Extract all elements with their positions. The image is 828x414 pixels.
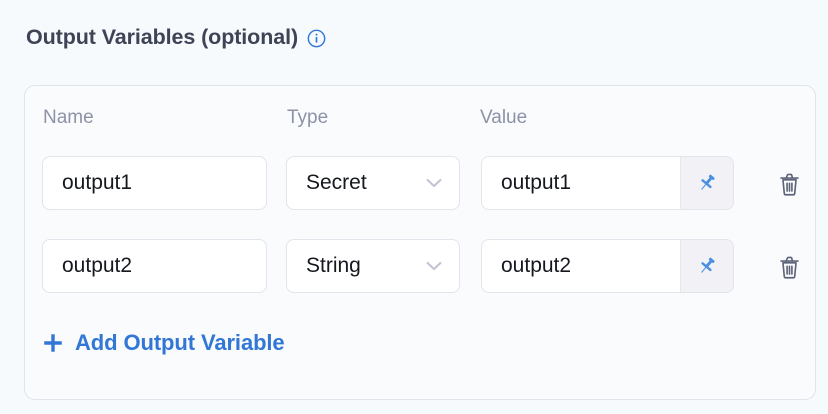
column-header-value: Value (480, 107, 527, 129)
column-header-type: Type (287, 107, 328, 129)
page-title: Output Variables (optional) (26, 25, 298, 50)
delete-variable-button[interactable] (762, 156, 816, 210)
variable-type-select[interactable]: Secret (286, 156, 460, 210)
column-header-name: Name (43, 107, 94, 129)
output-variables-rows: Secret (25, 156, 815, 322)
variable-type-selected-value: String (306, 254, 361, 278)
table-row: Secret (25, 156, 815, 210)
delete-variable-button[interactable] (762, 239, 816, 293)
table-header-row: Name Type Value (25, 107, 815, 133)
info-circle-icon[interactable] (307, 27, 326, 48)
variable-value-group (481, 156, 734, 210)
output-variables-card: Name Type Value Secret (24, 85, 816, 400)
pushpin-icon (696, 255, 718, 277)
variable-name-input[interactable] (42, 156, 267, 210)
variable-value-group (481, 239, 734, 293)
pin-value-button[interactable] (681, 157, 733, 209)
table-row: String (25, 239, 815, 293)
variable-value-input[interactable] (482, 240, 681, 292)
plus-icon (42, 332, 64, 354)
pin-value-button[interactable] (681, 240, 733, 292)
add-output-variable-label: Add Output Variable (75, 330, 285, 356)
section-header: Output Variables (optional) (26, 25, 326, 50)
trash-icon (777, 170, 802, 197)
pushpin-icon (696, 172, 718, 194)
variable-name-input[interactable] (42, 239, 267, 293)
variable-value-input[interactable] (482, 157, 681, 209)
variable-type-selected-value: Secret (306, 171, 367, 195)
add-output-variable-button[interactable]: Add Output Variable (42, 330, 285, 356)
trash-icon (777, 253, 802, 280)
variable-type-select[interactable]: String (286, 239, 460, 293)
